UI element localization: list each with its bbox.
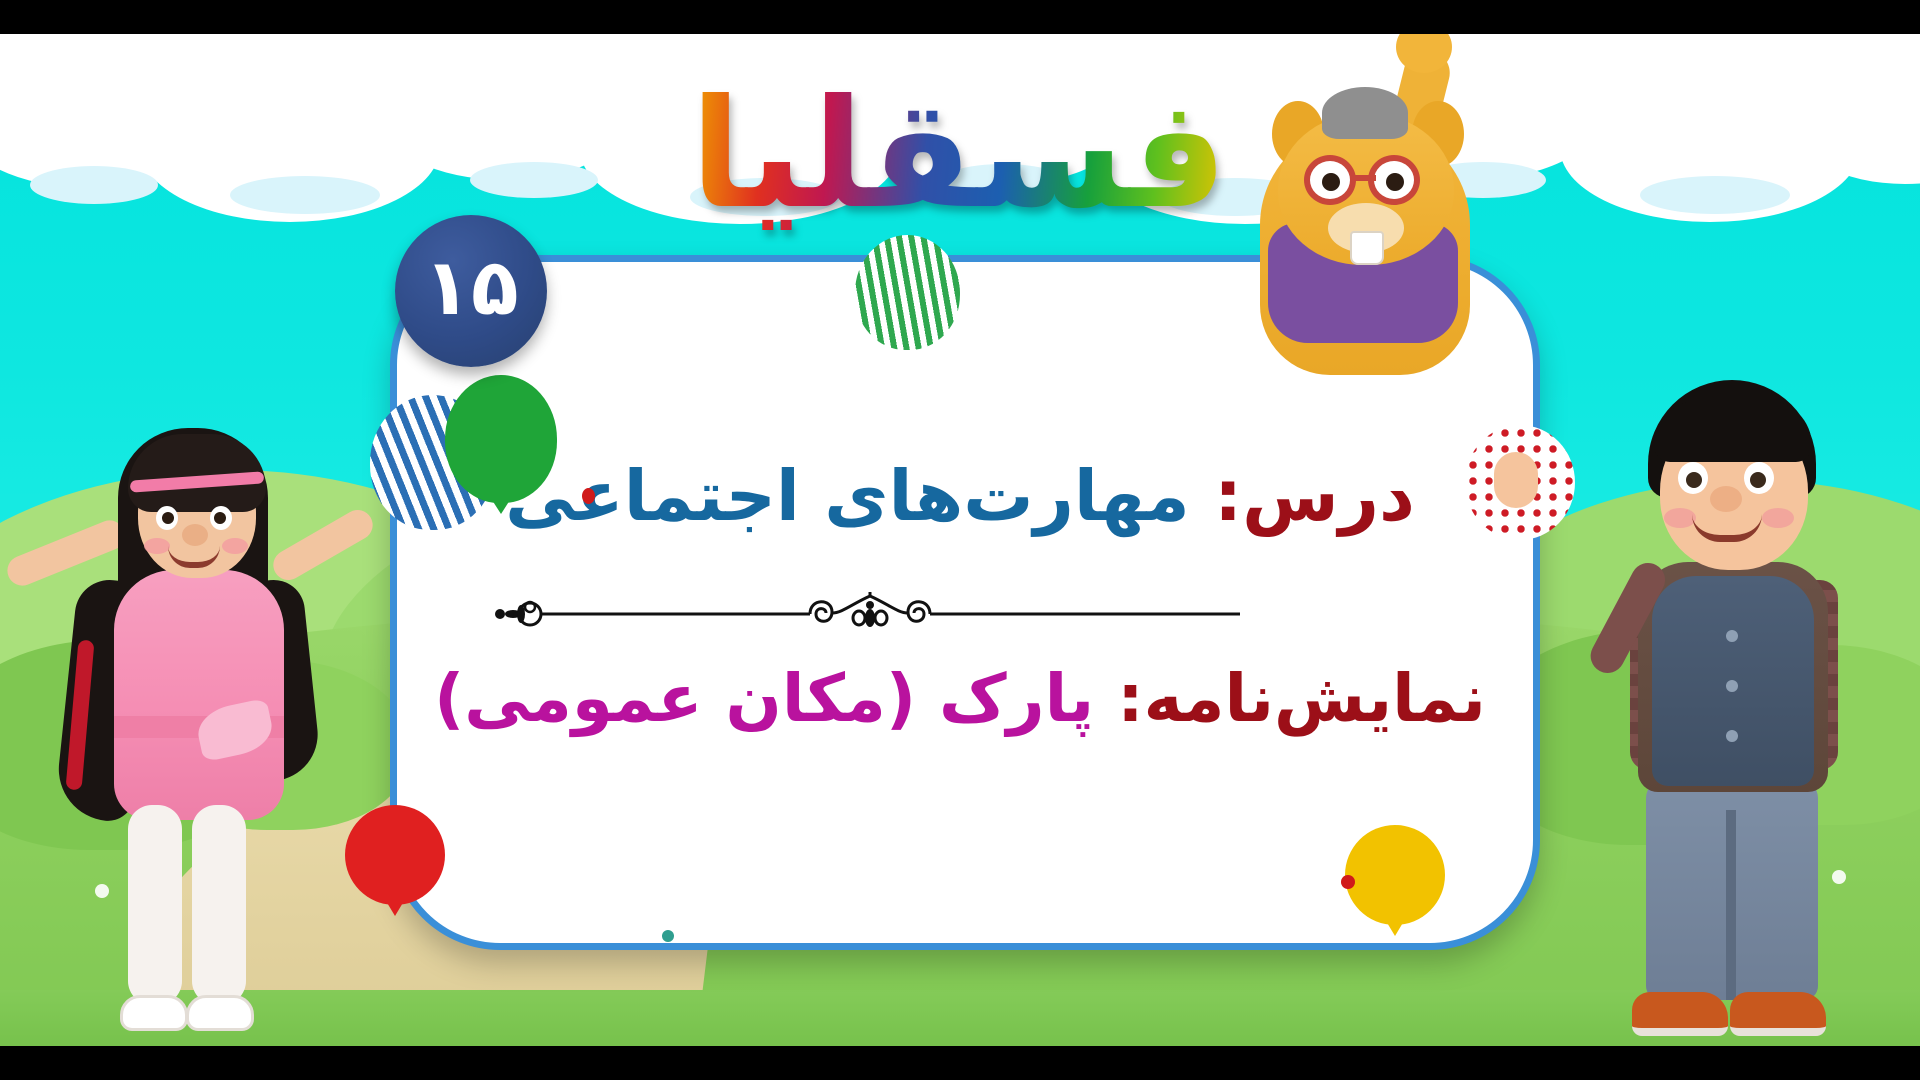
lesson-label: درس: [1214, 455, 1415, 537]
red-balloon-icon [345, 805, 445, 905]
green-striped-balloon-icon [855, 235, 960, 350]
girl-character [10, 420, 360, 1060]
letterbox-top [0, 0, 1920, 34]
lesson-number-badge: ۱۵ [395, 215, 547, 367]
hamster-mascot [1200, 55, 1540, 395]
yellow-balloon-icon [1345, 825, 1445, 925]
play-value: پارک (مکان عمومی) [434, 660, 1094, 737]
program-logo: فسقلیا [690, 80, 1228, 230]
lesson-value: مهارت‌های اجتماعی [505, 455, 1190, 537]
slide-stage: فسقلیا ۱۵ درس: مهارت‌های اجتماعی [0, 0, 1920, 1080]
play-label: نمایش‌نامه: [1117, 660, 1486, 737]
ornamental-divider [480, 592, 1260, 636]
teal-dot-icon [662, 930, 674, 942]
letterbox-bottom [0, 1046, 1920, 1080]
boy-character [1560, 380, 1900, 1060]
lesson-number-text: ۱۵ [423, 249, 518, 327]
green-balloon-icon [445, 375, 557, 503]
balloon-knot-dot-icon [582, 488, 595, 504]
